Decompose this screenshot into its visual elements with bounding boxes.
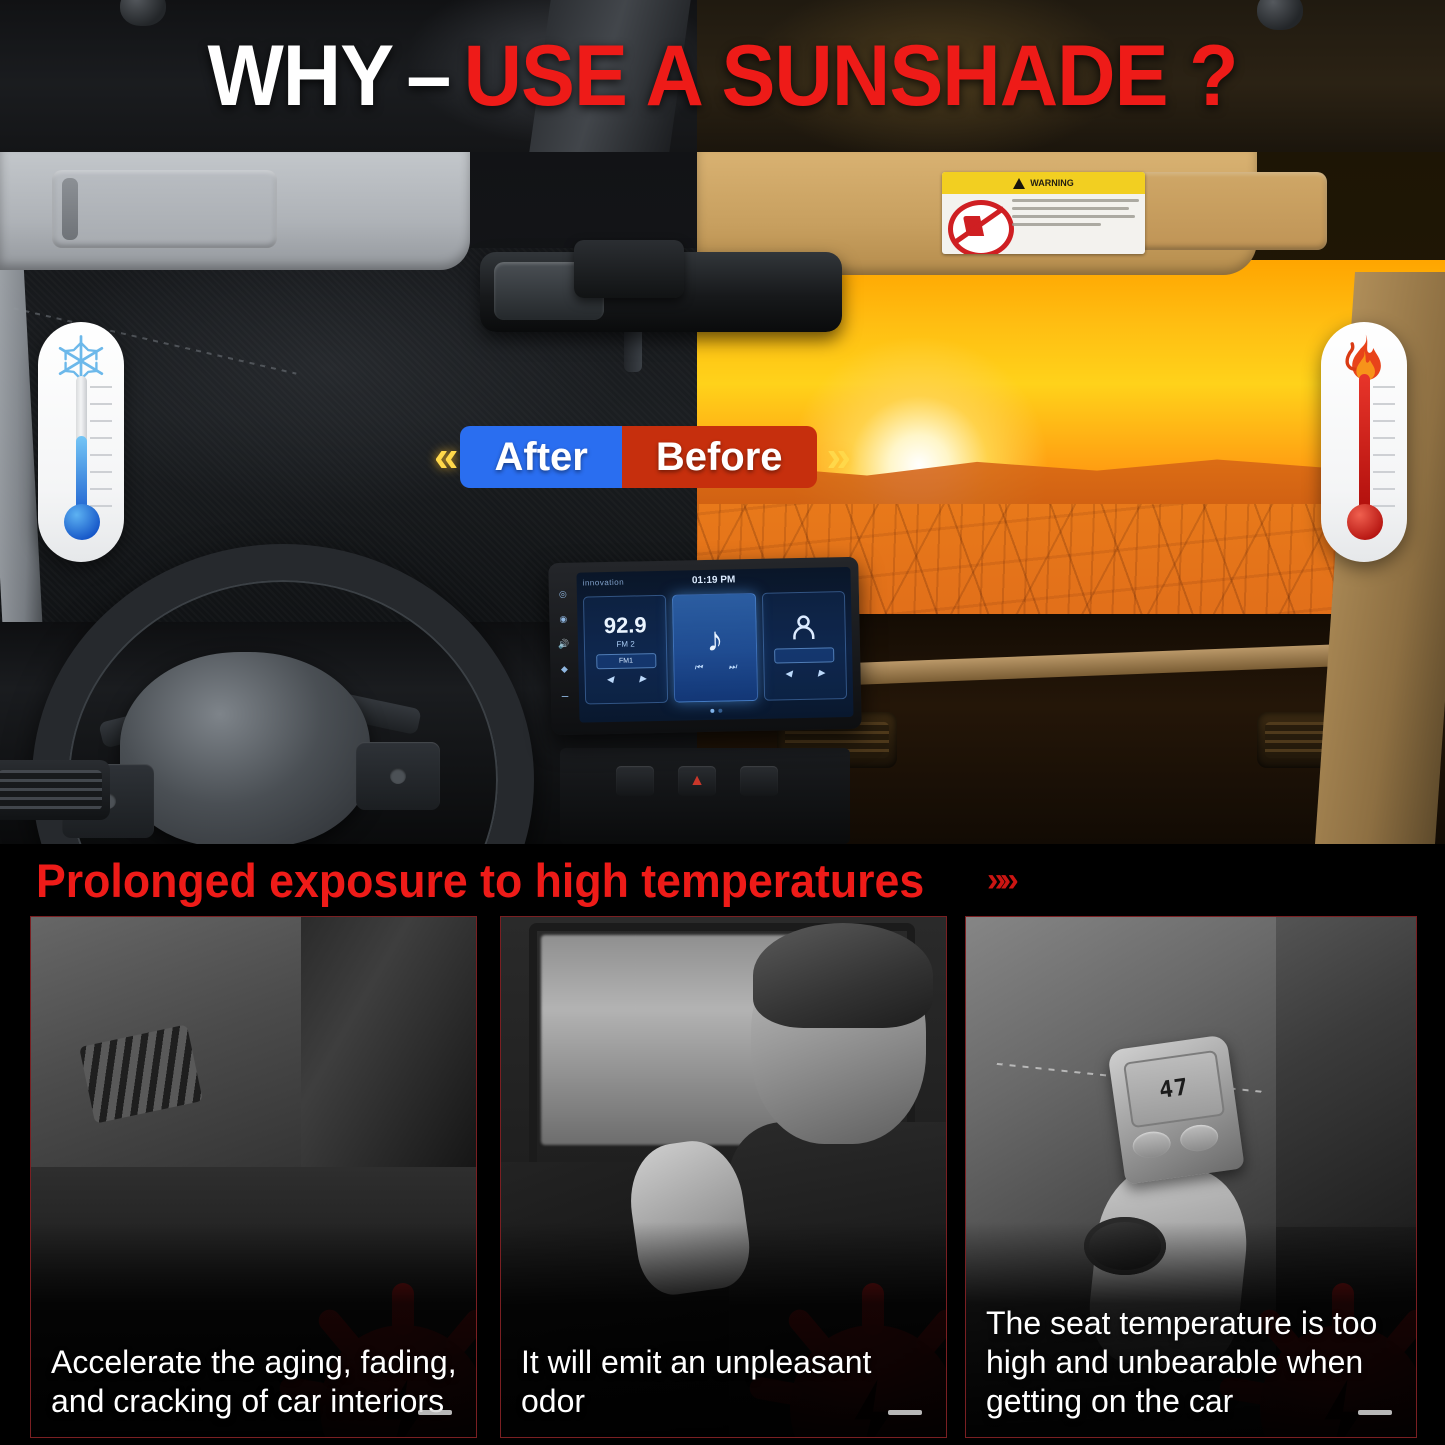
- hot-thermometer-bulb: [1347, 504, 1383, 540]
- settings-icon[interactable]: ◉: [559, 614, 567, 625]
- media-card[interactable]: ♪ ⏮ ⏭: [672, 593, 758, 703]
- caption-underline: [888, 1410, 922, 1415]
- hazard-light-button[interactable]: ▲: [678, 766, 716, 796]
- hot-thermometer-ticks: [1373, 386, 1395, 516]
- phone-next-icon[interactable]: ▶: [818, 667, 825, 678]
- steering-control-right[interactable]: [356, 742, 440, 810]
- person-hair: [753, 923, 933, 1028]
- page-dot-active: [710, 709, 714, 713]
- steering-dpad-icon: [390, 768, 406, 784]
- power-icon[interactable]: ◎: [559, 589, 567, 600]
- console-button-left[interactable]: [616, 766, 654, 796]
- infotainment-side-buttons[interactable]: ◎ ◉ 🔊 ◆ ⚊: [555, 589, 573, 700]
- warning-text-line: [1012, 223, 1101, 226]
- warning-text-line: [1012, 199, 1139, 202]
- radio-frequency: 92.9: [604, 614, 647, 637]
- page-title: WHY – USE A SUNSHADE ?: [43, 0, 1401, 152]
- warning-text-line: [1012, 207, 1129, 210]
- person-icon: [789, 613, 820, 644]
- title-dash: –: [406, 33, 463, 119]
- phone-controls[interactable]: ◀ ▶: [785, 667, 825, 679]
- radio-preset[interactable]: FM1: [596, 653, 656, 669]
- cold-thermometer-bulb: [64, 504, 100, 540]
- media-prev-icon[interactable]: ⏮: [694, 662, 702, 673]
- cold-thermometer-ticks: [90, 386, 112, 516]
- menu-icon[interactable]: ⚊: [561, 689, 569, 700]
- panel-seat-temperature: 47 The seat temperature is too high and …: [965, 916, 1417, 1438]
- phone-prev-icon[interactable]: ◀: [785, 668, 792, 679]
- child-seat-glyph: [963, 216, 984, 236]
- hot-thermometer-fill: [1359, 374, 1370, 514]
- cold-thermometer: [38, 322, 124, 562]
- infographic-page: WHY – USE A SUNSHADE ? WARNING: [0, 0, 1445, 1445]
- volume-icon[interactable]: 🔊: [558, 639, 569, 650]
- panel-caption: Accelerate the aging, fading, and cracki…: [31, 1343, 476, 1437]
- console-button-right[interactable]: [740, 766, 778, 796]
- infotainment-screen[interactable]: innovation 01:19 PM 92.9 FM 2 FM1 ◀ ▶: [576, 567, 853, 723]
- panel-caption: It will emit an unpleasant odor: [501, 1343, 946, 1437]
- phone-card[interactable]: ◀ ▶: [762, 591, 848, 701]
- section-arrows-icon: »»: [987, 861, 1013, 900]
- steering-wheel-hub: [120, 652, 370, 844]
- title-why: WHY: [207, 33, 406, 119]
- warning-label-header: WARNING: [942, 172, 1145, 194]
- panel-caption: The seat temperature is too high and unb…: [966, 1304, 1416, 1437]
- home-icon[interactable]: ◆: [561, 664, 568, 675]
- chevron-left-icon: «: [434, 435, 450, 479]
- airbag-warning-label: WARNING: [942, 172, 1145, 254]
- thermometer-button-right[interactable]: [1179, 1123, 1220, 1154]
- after-air-vent: [0, 760, 110, 820]
- warning-text-line: [1012, 215, 1135, 218]
- panel-aging: Accelerate the aging, fading, and cracki…: [30, 916, 477, 1438]
- radio-card[interactable]: 92.9 FM 2 FM1 ◀ ▶: [583, 595, 669, 705]
- section-title-band: Prolonged exposure to high temperatures …: [0, 844, 1445, 916]
- consequence-panels: Accelerate the aging, fading, and cracki…: [0, 916, 1445, 1445]
- radio-controls[interactable]: ◀ ▶: [606, 673, 646, 685]
- panel-caption-overlay: It will emit an unpleasant odor: [501, 1222, 946, 1437]
- cold-thermometer-fill: [76, 436, 87, 514]
- thermometer-button-left[interactable]: [1131, 1129, 1172, 1160]
- page-dot: [718, 709, 722, 713]
- warning-triangle-icon: [1013, 178, 1025, 189]
- panel-odor: It will emit an unpleasant odor: [500, 916, 947, 1438]
- infotainment-cards: 92.9 FM 2 FM1 ◀ ▶ ♪ ⏮ ⏭: [577, 587, 853, 709]
- radio-band: FM 2: [616, 639, 634, 648]
- panel-caption-overlay: The seat temperature is too high and unb…: [966, 1222, 1416, 1437]
- music-note-icon: ♪: [706, 623, 724, 657]
- mirror-camera-module: [574, 240, 684, 298]
- center-console: ▲: [560, 748, 850, 844]
- thermometer-display: 47: [1123, 1050, 1225, 1128]
- infrared-thermometer: 47: [1107, 1034, 1245, 1184]
- caption-underline: [418, 1410, 452, 1415]
- infotainment-head-unit: ◎ ◉ 🔊 ◆ ⚊ innovation 01:19 PM 92.9 FM 2 …: [548, 557, 862, 735]
- warning-label-text: WARNING: [1030, 178, 1074, 188]
- phone-pill[interactable]: [774, 647, 834, 663]
- no-child-seat-icon: [948, 200, 1014, 254]
- after-visor-pocket: [52, 170, 277, 248]
- media-controls[interactable]: ⏮ ⏭: [694, 661, 736, 673]
- radio-next-icon[interactable]: ▶: [639, 673, 646, 684]
- media-next-icon[interactable]: ⏭: [728, 661, 736, 672]
- title-use-a-sunshade: USE A SUNSHADE ?: [464, 33, 1238, 119]
- panel-caption-overlay: Accelerate the aging, fading, and cracki…: [31, 1222, 476, 1437]
- after-sun-visor: [0, 152, 470, 270]
- radio-prev-icon[interactable]: ◀: [606, 674, 613, 685]
- infotainment-clock: 01:19 PM: [577, 571, 851, 588]
- header-banner: WHY – USE A SUNSHADE ?: [0, 0, 1445, 152]
- caption-underline: [1358, 1410, 1392, 1415]
- hero-comparison: WARNING: [0, 152, 1445, 844]
- badge-before: Before: [622, 426, 817, 488]
- thermometer-reading: 47: [1158, 1074, 1191, 1104]
- section-title: Prolonged exposure to high temperatures: [36, 857, 924, 904]
- before-after-badges: « After Before »: [434, 420, 994, 494]
- hot-thermometer: [1321, 322, 1407, 562]
- warning-label-body: [942, 194, 1145, 254]
- chevron-right-icon: »: [827, 435, 843, 479]
- badge-after: After: [460, 426, 621, 488]
- hazard-triangle-icon: ▲: [689, 772, 705, 790]
